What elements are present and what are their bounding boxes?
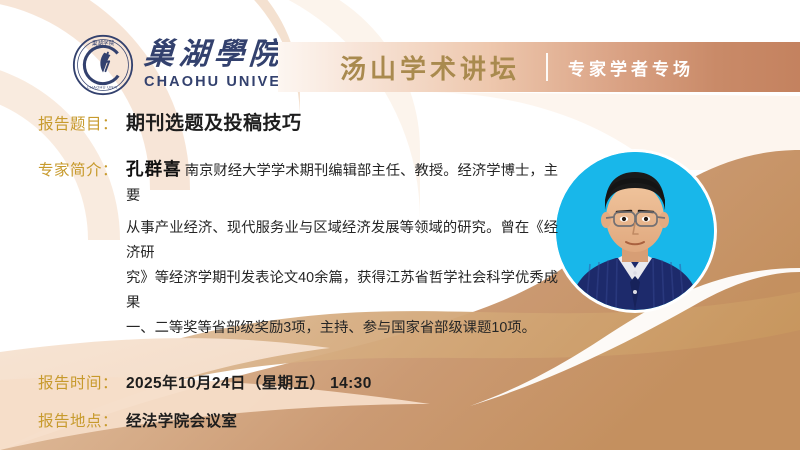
event-banner: 汤山学术讲坛 专家学者专场 <box>278 42 800 92</box>
poster-canvas: 巢湖学院 CHAOHU UNIV. 巢湖學院 CHAOHU UNIVERSITY… <box>0 0 800 450</box>
time-row: 报告时间： 2025年10月24日（星期五） 14:30 <box>38 371 558 393</box>
speaker-label: 专家简介： <box>38 158 126 180</box>
speaker-bio-line-3: 究》等经济学期刊发表论文40余篇，获得江苏省哲学社会科学优秀成果 <box>126 266 558 316</box>
speaker-name: 孔群喜 <box>126 159 182 179</box>
topic-row: 报告题目： 期刊选题及投稿技巧 <box>38 108 558 135</box>
time-value: 2025年10月24日（星期五） 14:30 <box>126 371 372 393</box>
time-label: 报告时间： <box>38 371 126 393</box>
speaker-row: 专家简介： 孔群喜南京财经大学学术期刊编辑部主任、教授。经济学博士，主要 <box>38 157 558 209</box>
svg-text:巢湖学院: 巢湖学院 <box>92 39 115 47</box>
place-label: 报告地点： <box>38 409 126 431</box>
speaker-bio-line-2: 从事产业经济、现代服务业与区域经济发展等领域的研究。曾在《经济研 <box>126 216 558 266</box>
university-seal-icon: 巢湖学院 CHAOHU UNIV. <box>72 34 134 96</box>
speaker-bio-rest: 从事产业经济、现代服务业与区域经济发展等领域的研究。曾在《经济研 究》等经济学期… <box>38 216 558 341</box>
svg-text:CHAOHU UNIV.: CHAOHU UNIV. <box>87 86 119 90</box>
bio-spacer <box>38 341 558 355</box>
place-value: 经法学院会议室 <box>126 409 237 431</box>
speaker-first-line: 孔群喜南京财经大学学术期刊编辑部主任、教授。经济学博士，主要 <box>126 157 558 209</box>
speaker-portrait <box>556 152 714 310</box>
poster-header: 巢湖学院 CHAOHU UNIV. 巢湖學院 CHAOHU UNIVERSITY… <box>0 0 800 105</box>
speaker-bio-line-1: 南京财经大学学术期刊编辑部主任、教授。经济学博士，主要 <box>126 163 558 204</box>
topic-value: 期刊选题及投稿技巧 <box>126 108 302 135</box>
speaker-bio-line-4: 一、二等奖等省部级奖励3项，主持、参与国家省部级课题10项。 <box>126 316 558 341</box>
banner-subtitle: 专家学者专场 <box>568 55 694 80</box>
place-row: 报告地点： 经法学院会议室 <box>38 409 558 431</box>
topic-label: 报告题目： <box>38 112 126 134</box>
banner-divider-icon <box>546 53 548 81</box>
poster-body: 报告题目： 期刊选题及投稿技巧 专家简介： 孔群喜南京财经大学学术期刊编辑部主任… <box>38 108 558 450</box>
banner-title: 汤山学术讲坛 <box>340 49 520 86</box>
